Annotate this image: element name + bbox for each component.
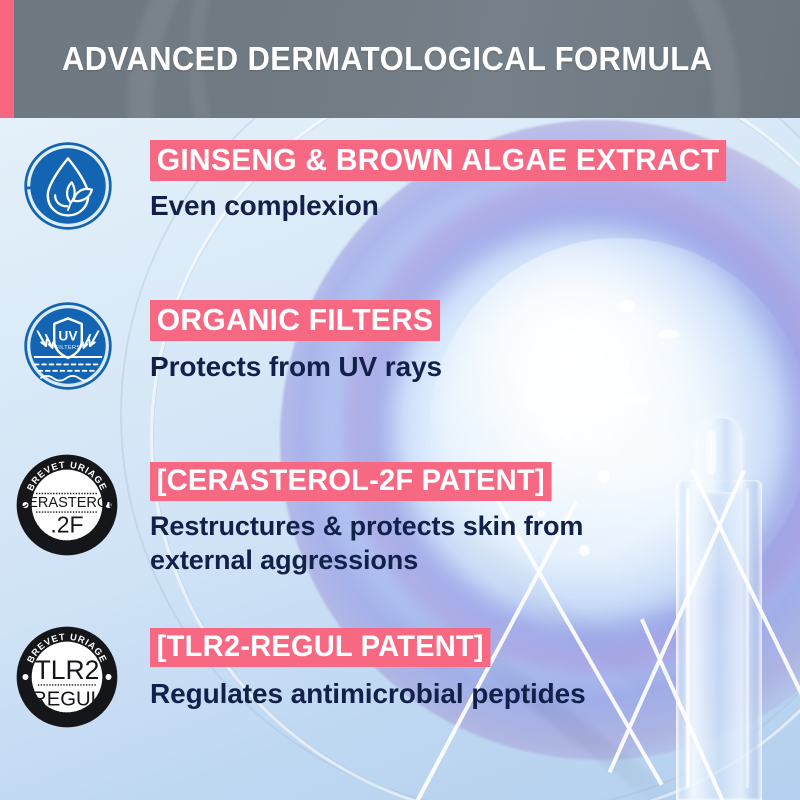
tlr2-regul-patent-seal-icon: BREVET URIAGE URIAGE PATENT TLR2 REGUL (14, 624, 120, 735)
feature-text-cerasterol: [CERASTEROL-2F PATENT] Restructures & pr… (150, 462, 650, 578)
feature-list: GINSENG & BROWN ALGAE EXTRACT Even compl… (0, 118, 800, 800)
feature-title: GINSENG & BROWN ALGAE EXTRACT (150, 140, 726, 181)
svg-text:FILTERS: FILTERS (56, 345, 81, 351)
feature-subtitle: Regulates antimicrobial peptides (150, 678, 586, 710)
cerasterol-patent-seal-icon: BREVET URIAGE URIAGE PATENT CERASTEROL .… (14, 452, 120, 563)
svg-text:CERASTEROL: CERASTEROL (18, 495, 117, 511)
droplet-leaf-icon (22, 140, 114, 237)
svg-text:UV: UV (58, 328, 78, 343)
feature-subtitle: Even complexion (150, 190, 744, 222)
svg-text:.2F: .2F (50, 511, 83, 537)
uv-shield-icon: UV FILTERS (22, 300, 114, 397)
feature-subtitle: Protects from UV rays (150, 351, 449, 383)
feature-title: [TLR2-REGUL PATENT] (150, 628, 491, 667)
page-title: ADVANCED DERMATOLOGICAL FORMULA (62, 0, 712, 118)
cerasterol-seal-svg: BREVET URIAGE URIAGE PATENT CERASTEROL .… (14, 452, 120, 558)
infographic-canvas: ADVANCED DERMATOLOGICAL FORMULA GINSENG … (0, 0, 800, 800)
feature-title: ORGANIC FILTERS (150, 300, 440, 341)
svg-text:REGUL: REGUL (32, 688, 102, 710)
svg-text:TLR2: TLR2 (35, 655, 100, 685)
header-accent-bar (0, 0, 14, 118)
feature-text-ginseng: GINSENG & BROWN ALGAE EXTRACT Even compl… (150, 140, 744, 222)
feature-title: [CERASTEROL-2F PATENT] (150, 462, 552, 501)
feature-text-organic-filters: ORGANIC FILTERS Protects from UV rays (150, 300, 449, 383)
uv-shield-icon-svg: UV FILTERS (22, 300, 114, 392)
droplet-leaf-icon-svg (22, 140, 114, 232)
feature-text-tlr2: [TLR2-REGUL PATENT] Regulates antimicrob… (150, 628, 586, 710)
header-banner: ADVANCED DERMATOLOGICAL FORMULA (0, 0, 800, 118)
tlr2-regul-seal-svg: BREVET URIAGE URIAGE PATENT TLR2 REGUL (14, 624, 120, 730)
feature-subtitle: Restructures & protects skin from extern… (150, 510, 650, 578)
